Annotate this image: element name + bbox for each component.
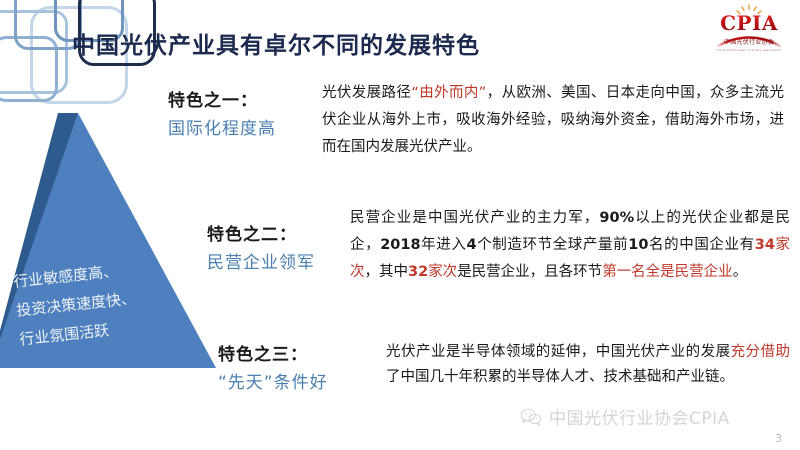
page-number: 3 xyxy=(775,432,782,445)
watermark: 中国光伏行业协会CPIA xyxy=(520,404,730,429)
feature-1-subheading: 国际化程度高 xyxy=(168,114,276,139)
watermark-text: 中国光伏行业协会CPIA xyxy=(549,404,730,429)
cpia-logo: CPIA 中国光伏行业协会 China Photovoltaic Industr… xyxy=(710,4,788,56)
wechat-icon xyxy=(520,408,542,426)
feature-1-body: 光伏发展路径“由外而内”，从欧洲、美国、日本走向中国，众多主流光伏企业从海外上市… xyxy=(322,80,784,161)
svg-text:CPIA: CPIA xyxy=(720,11,778,35)
page-title: 中国光伏产业具有卓尔不同的发展特色 xyxy=(72,26,480,60)
slide-canvas: 中国光伏产业具有卓尔不同的发展特色 CPIA xyxy=(0,0,800,450)
feature-1-heading: 特色之一： xyxy=(168,86,276,111)
svg-text:China Photovoltaic Industry As: China Photovoltaic Industry Association xyxy=(716,48,781,52)
feature-2-heading: 特色之二： xyxy=(207,220,315,245)
feature-3-body: 光伏产业是半导体领域的延伸，中国光伏产业的发展充分借助了中国几十年积累的半导体人… xyxy=(386,340,790,390)
feature-3-heading-block: 特色之三： “先天”条件好 xyxy=(218,340,328,393)
feature-3-subheading: “先天”条件好 xyxy=(218,368,328,393)
feature-1-heading-block: 特色之一： 国际化程度高 xyxy=(168,86,276,139)
feature-2-body: 民营企业是中国光伏产业的主力军，90%以上的光伏企业都是民企，2018年进入4个… xyxy=(350,205,790,286)
svg-text:中国光伏行业协会: 中国光伏行业协会 xyxy=(724,38,774,46)
feature-2-subheading: 民营企业领军 xyxy=(207,248,315,273)
feature-2-heading-block: 特色之二： 民营企业领军 xyxy=(207,220,315,273)
feature-3-heading: 特色之三： xyxy=(218,340,328,365)
